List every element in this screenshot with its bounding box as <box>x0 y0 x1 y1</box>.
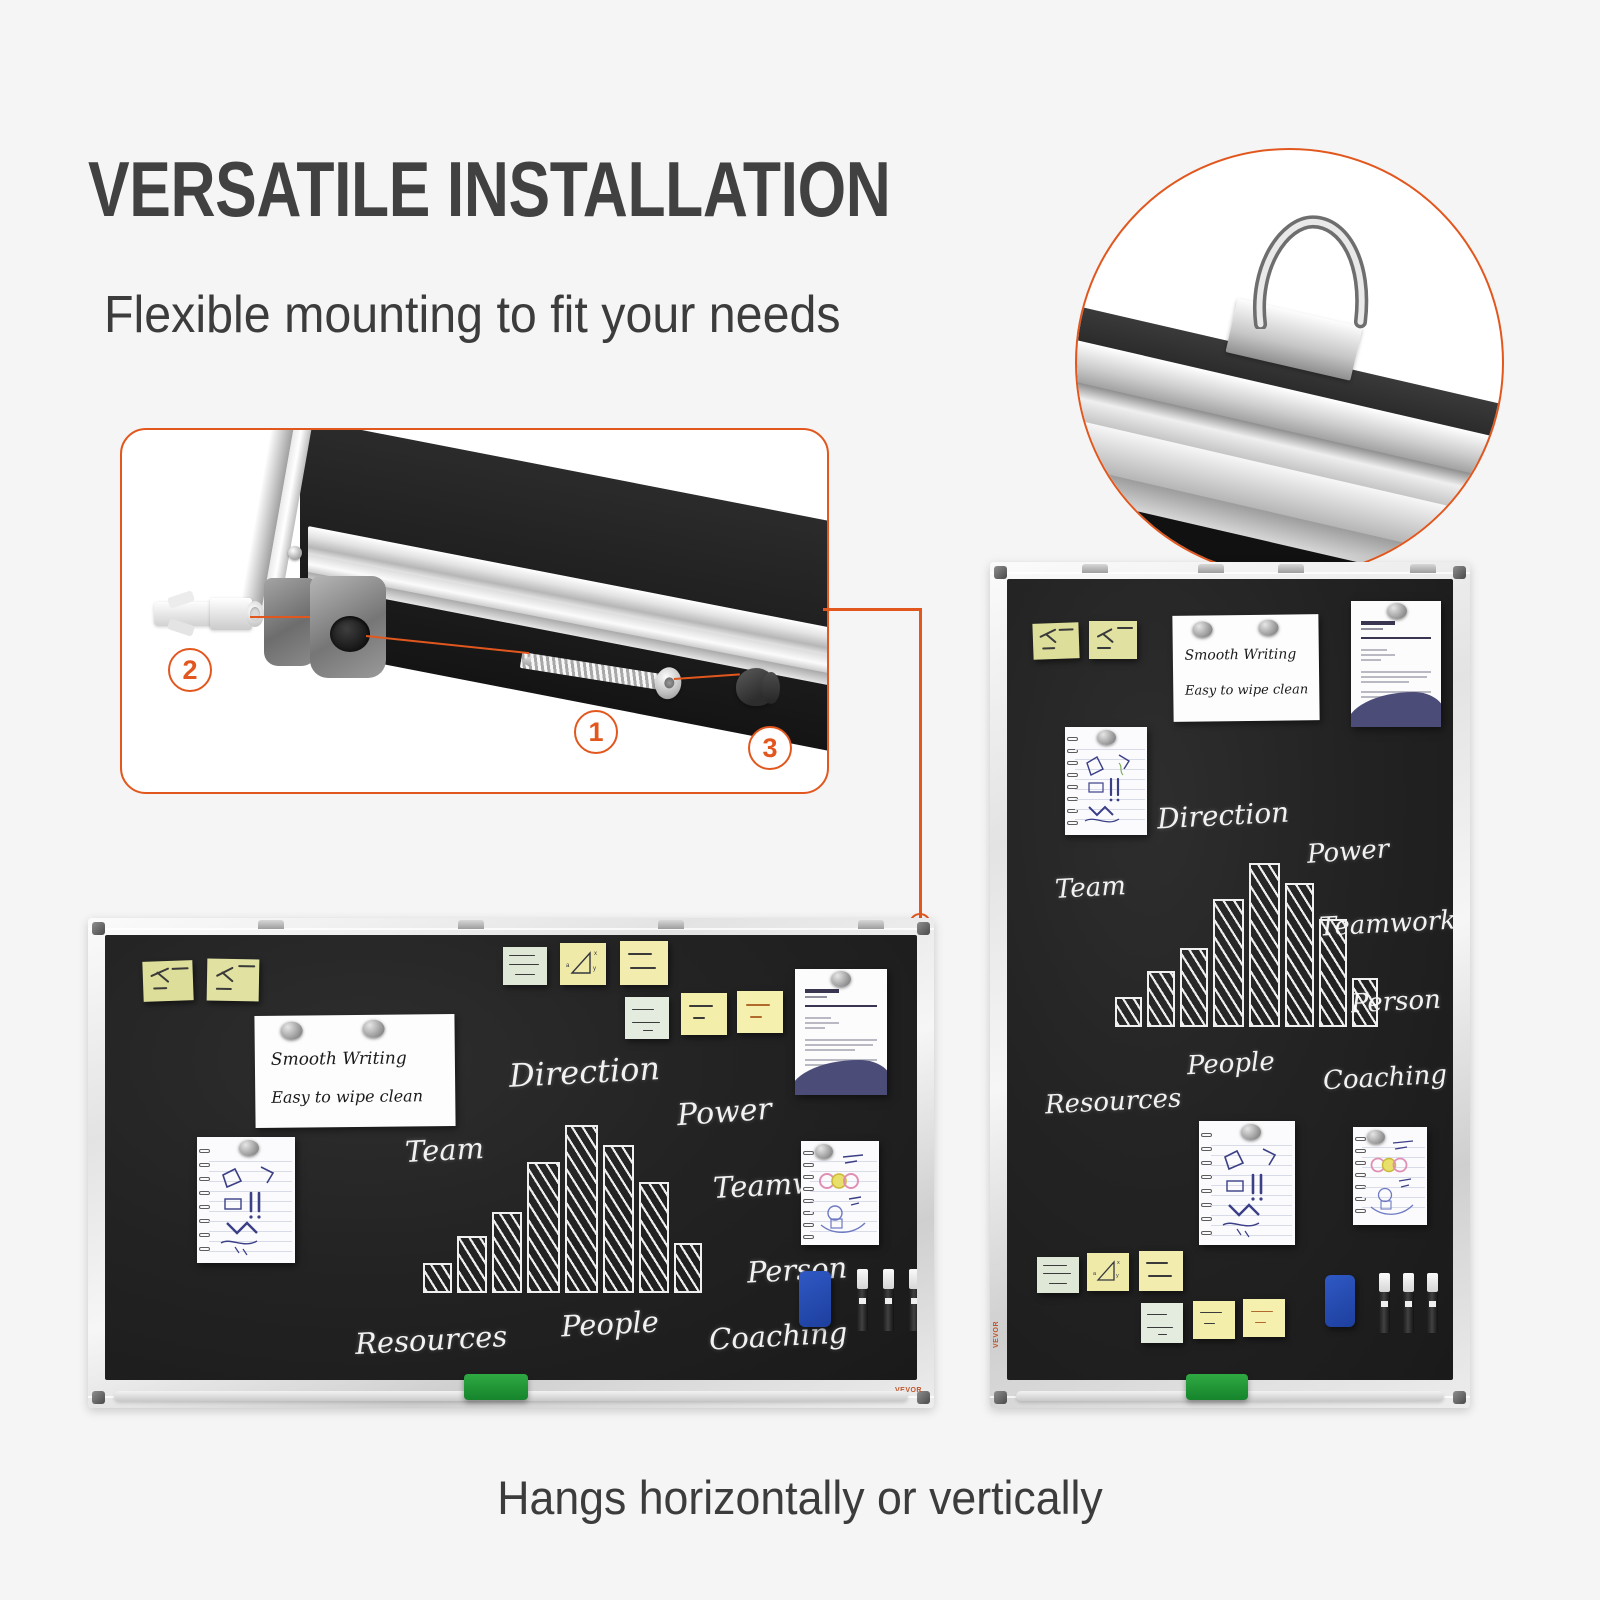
sticky-note[interactable] <box>1193 1301 1235 1339</box>
magnet[interactable] <box>1241 1124 1261 1140</box>
handwritten-word-direction: Direction <box>508 1049 661 1095</box>
magnet[interactable] <box>1387 603 1407 619</box>
frame-corner-cap-bl <box>994 1391 1007 1404</box>
handwritten-word-person: Person <box>746 1250 848 1289</box>
sticky-note[interactable] <box>620 941 668 985</box>
handwritten-word-resources: Resources <box>354 1319 508 1361</box>
callout-badge-1: 1 <box>574 710 618 754</box>
svg-text:y: y <box>1116 1273 1119 1279</box>
handwritten-word-people: People <box>1186 1047 1275 1082</box>
magnet[interactable] <box>831 971 851 987</box>
chart-bar <box>565 1125 598 1293</box>
board-writing-surface[interactable]: Smooth Writing Easy to wipe clean <box>1007 579 1453 1380</box>
frame-corner-cap-bl <box>92 1391 105 1404</box>
sticky-note[interactable] <box>737 991 783 1033</box>
chart-bar <box>1319 919 1347 1027</box>
frame-corner-cap-tr <box>1453 566 1466 579</box>
sticky-note[interactable] <box>503 947 547 985</box>
spiral-notepad[interactable] <box>1065 727 1147 835</box>
spiral-notepad[interactable] <box>197 1137 295 1263</box>
callout-badge-2: 2 <box>168 648 212 692</box>
magnet[interactable] <box>1258 620 1278 636</box>
notepad-doodle-icon <box>213 1159 291 1259</box>
spiral-notepad[interactable] <box>1199 1121 1295 1245</box>
frame-corner-cap-tl <box>92 922 105 935</box>
chart-bar <box>1115 997 1142 1027</box>
vertical-whiteboard[interactable]: VEVOR Smooth Writing Easy to wipe cle <box>990 562 1470 1408</box>
chart-bar <box>492 1212 522 1293</box>
svg-text:a: a <box>566 963 570 969</box>
handwritten-word-direction: Direction <box>1156 796 1290 836</box>
frame-corner-cap-tl <box>994 566 1007 579</box>
letterhead-subtitle-bar <box>1361 628 1383 630</box>
note-card-smooth-writing[interactable]: Smooth Writing Easy to wipe clean <box>254 1014 455 1128</box>
letterhead-subtitle-bar <box>805 996 827 998</box>
brand-mark: VEVOR <box>993 1321 1000 1348</box>
green-eraser[interactable] <box>464 1374 528 1400</box>
marker[interactable] <box>1403 1273 1414 1333</box>
chart-bar <box>1352 978 1378 1027</box>
triangle-doodle-icon: x y a <box>560 943 606 985</box>
wall-anchor-part <box>154 592 264 636</box>
note-card-smooth-writing[interactable]: Smooth Writing Easy to wipe clean <box>1172 614 1319 722</box>
triangle-doodle-icon: x y a <box>1087 1253 1129 1291</box>
frame-screw-icon <box>288 546 302 560</box>
note-card-line-2: Easy to wipe clean <box>271 1086 443 1107</box>
sticky-note[interactable] <box>1032 622 1079 660</box>
notepad-doodle-icon <box>1215 1141 1291 1241</box>
letterhead-document[interactable] <box>1351 601 1441 727</box>
hanger-clip <box>258 920 284 929</box>
letterhead-document[interactable] <box>795 969 887 1095</box>
svg-text:x: x <box>1117 1260 1120 1266</box>
spiral-notepad[interactable] <box>1353 1127 1427 1225</box>
chart-bar <box>423 1263 452 1293</box>
notepad-colored-doodle-icon <box>1365 1135 1425 1221</box>
notepad-colored-doodle-icon <box>813 1149 877 1241</box>
hanger-clip <box>458 920 484 929</box>
corner-bracket-left <box>264 578 316 666</box>
hand-drawn-bar-chart <box>423 1125 691 1293</box>
spiral-notepad[interactable] <box>801 1141 879 1245</box>
sticky-note[interactable] <box>1141 1303 1183 1343</box>
sticky-note[interactable]: x y a <box>1087 1253 1129 1291</box>
notepad-doodle-icon <box>1079 749 1143 831</box>
chart-bar <box>639 1182 669 1293</box>
callout-badge-3: 3 <box>748 726 792 770</box>
hand-drawn-bar-chart <box>1115 863 1365 1027</box>
sticky-note[interactable] <box>142 960 193 1002</box>
magnet[interactable] <box>1097 730 1116 745</box>
chart-bar <box>1180 948 1208 1027</box>
handwritten-word-resources: Resources <box>1044 1083 1182 1120</box>
page-title: VERSATILE INSTALLATION <box>88 150 890 228</box>
hanger-clip <box>858 920 884 929</box>
note-card-line-1: Smooth Writing <box>271 1048 443 1070</box>
mounting-hardware-panel: 2 1 3 <box>120 428 829 794</box>
frame-groove-top <box>990 572 1470 574</box>
leader-line-panel-h <box>823 608 921 611</box>
chart-bar <box>1213 899 1244 1027</box>
sticky-note[interactable] <box>625 997 669 1039</box>
page-subtitle: Flexible mounting to fit your needs <box>104 285 841 345</box>
magnet[interactable] <box>362 1020 384 1038</box>
sticky-note[interactable] <box>1243 1299 1285 1337</box>
note-card-line-1: Smooth Writing <box>1184 646 1310 664</box>
chart-bar <box>674 1243 702 1293</box>
marker[interactable] <box>883 1269 894 1331</box>
blue-eraser[interactable] <box>1325 1275 1355 1327</box>
leader-line-panel-v <box>919 608 922 920</box>
chart-bar <box>527 1162 560 1293</box>
marker[interactable] <box>857 1269 868 1331</box>
hanger-clip <box>658 920 684 929</box>
bottom-caption: Hangs horizontally or vertically <box>40 1470 1560 1525</box>
board-writing-surface[interactable]: Smooth Writing Easy to wipe clean x y a <box>105 935 917 1380</box>
letterhead-title-bar <box>805 989 839 993</box>
chart-bar <box>1285 883 1314 1027</box>
chart-bar <box>1249 863 1280 1027</box>
sticky-note[interactable] <box>1139 1251 1183 1291</box>
sticky-note[interactable] <box>1089 621 1137 659</box>
svg-text:y: y <box>593 966 596 972</box>
mounting-hole <box>330 616 370 652</box>
sticky-note[interactable] <box>681 993 727 1035</box>
handwritten-word-coaching: Coaching <box>1322 1060 1447 1096</box>
sticky-note[interactable]: x y a <box>560 943 606 985</box>
note-card-line-2: Easy to wipe clean <box>1185 682 1311 699</box>
blue-eraser[interactable] <box>799 1271 831 1327</box>
horizontal-whiteboard[interactable]: VEVOR Smooth Writing Easy to wipe cle <box>88 918 934 1408</box>
chart-bar <box>457 1236 487 1293</box>
magnet[interactable] <box>239 1140 259 1156</box>
magnet[interactable] <box>280 1022 302 1040</box>
svg-text:a: a <box>1093 1271 1097 1277</box>
poster-canvas: VERSATILE INSTALLATION Flexible mounting… <box>0 0 1600 1600</box>
frame-corner-cap-tr <box>917 922 930 935</box>
sticky-note[interactable] <box>1037 1257 1079 1293</box>
marker[interactable] <box>909 1269 917 1331</box>
d-ring-icon <box>1251 210 1370 329</box>
handwritten-word-people: People <box>560 1304 659 1343</box>
green-eraser[interactable] <box>1186 1374 1248 1400</box>
marker[interactable] <box>1427 1273 1438 1333</box>
hanger-clip <box>1082 564 1108 573</box>
chart-bar <box>603 1145 634 1293</box>
chart-bar <box>1147 971 1175 1027</box>
hanger-clip <box>1278 564 1304 573</box>
hanger-clip <box>1410 564 1436 573</box>
cover-cap-part <box>736 668 782 708</box>
leader-anchor <box>250 616 310 618</box>
sticky-note[interactable] <box>207 959 260 1002</box>
frame-corner-cap-br <box>1453 1391 1466 1404</box>
letterhead-title-bar <box>1361 621 1395 625</box>
svg-text:x: x <box>594 951 597 957</box>
magnet[interactable] <box>1192 621 1212 637</box>
d-ring-hanger-closeup <box>1075 148 1504 577</box>
frame-groove-top <box>88 928 934 930</box>
hanger-clip <box>1198 564 1224 573</box>
marker[interactable] <box>1379 1273 1390 1333</box>
